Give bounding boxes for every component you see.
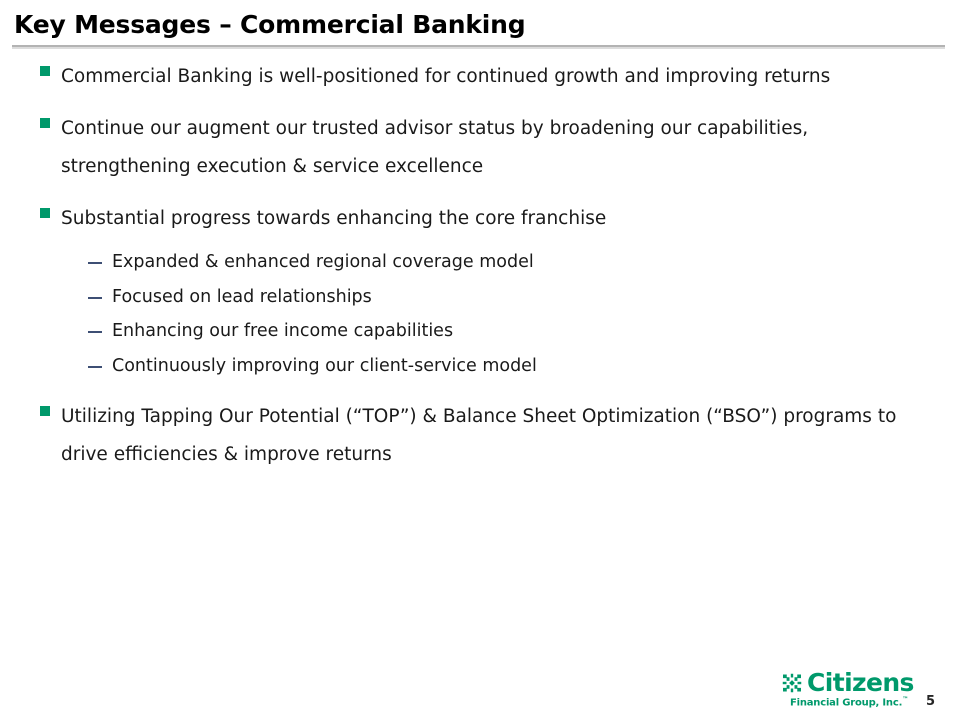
sub-list-item: Expanded & enhanced regional coverage mo… bbox=[0, 246, 960, 280]
dash-bullet-icon bbox=[88, 297, 102, 299]
square-bullet-icon bbox=[40, 118, 50, 128]
bullet-text: Utilizing Tapping Our Potential (“TOP”) … bbox=[61, 398, 916, 474]
slide-canvas: Key Messages – Commercial Banking Commer… bbox=[0, 0, 960, 720]
sub-list-item: Continuously improving our client-servic… bbox=[0, 350, 960, 384]
bullet-text: Continue our augment our trusted advisor… bbox=[61, 110, 916, 186]
brand-logo: Citizens Financial Group, Inc.™ bbox=[780, 670, 910, 712]
sub-bullet-list: Expanded & enhanced regional coverage mo… bbox=[0, 246, 960, 383]
trademark-icon: ™ bbox=[902, 696, 908, 703]
dash-bullet-icon bbox=[88, 331, 102, 333]
sub-list-item: Enhancing our free income capabilities bbox=[0, 315, 960, 349]
square-bullet-icon bbox=[40, 406, 50, 416]
square-bullet-icon bbox=[40, 208, 50, 218]
sub-list-item: Focused on lead relationships bbox=[0, 281, 960, 315]
spacer bbox=[0, 385, 960, 398]
list-item: Continue our augment our trusted advisor… bbox=[0, 110, 960, 186]
logo-subtitle: Financial Group, Inc. bbox=[790, 697, 902, 708]
dash-bullet-icon bbox=[88, 262, 102, 264]
sub-bullet-text: Focused on lead relationships bbox=[112, 281, 372, 315]
logo-subtitle-row: Financial Group, Inc.™ bbox=[780, 696, 910, 708]
page-number: 5 bbox=[926, 694, 935, 709]
logo-wordmark: Citizens bbox=[807, 670, 914, 695]
bullet-text: Substantial progress towards enhancing t… bbox=[61, 200, 606, 238]
sub-bullet-text: Expanded & enhanced regional coverage mo… bbox=[112, 246, 534, 280]
list-item: Substantial progress towards enhancing t… bbox=[0, 200, 960, 238]
square-bullet-icon bbox=[40, 66, 50, 76]
dash-bullet-icon bbox=[88, 366, 102, 368]
sub-bullet-text: Enhancing our free income capabilities bbox=[112, 315, 453, 349]
title-divider bbox=[12, 45, 945, 49]
list-item: Utilizing Tapping Our Potential (“TOP”) … bbox=[0, 398, 960, 474]
citizens-pinwheel-icon bbox=[780, 671, 804, 695]
slide-body: Commercial Banking is well-positioned fo… bbox=[0, 58, 960, 658]
logo-row: Citizens bbox=[780, 670, 910, 695]
page-title: Key Messages – Commercial Banking bbox=[14, 10, 525, 39]
bullet-text: Commercial Banking is well-positioned fo… bbox=[61, 58, 830, 96]
sub-bullet-text: Continuously improving our client-servic… bbox=[112, 350, 537, 384]
slide-header: Key Messages – Commercial Banking bbox=[0, 0, 960, 54]
list-item: Commercial Banking is well-positioned fo… bbox=[0, 58, 960, 96]
